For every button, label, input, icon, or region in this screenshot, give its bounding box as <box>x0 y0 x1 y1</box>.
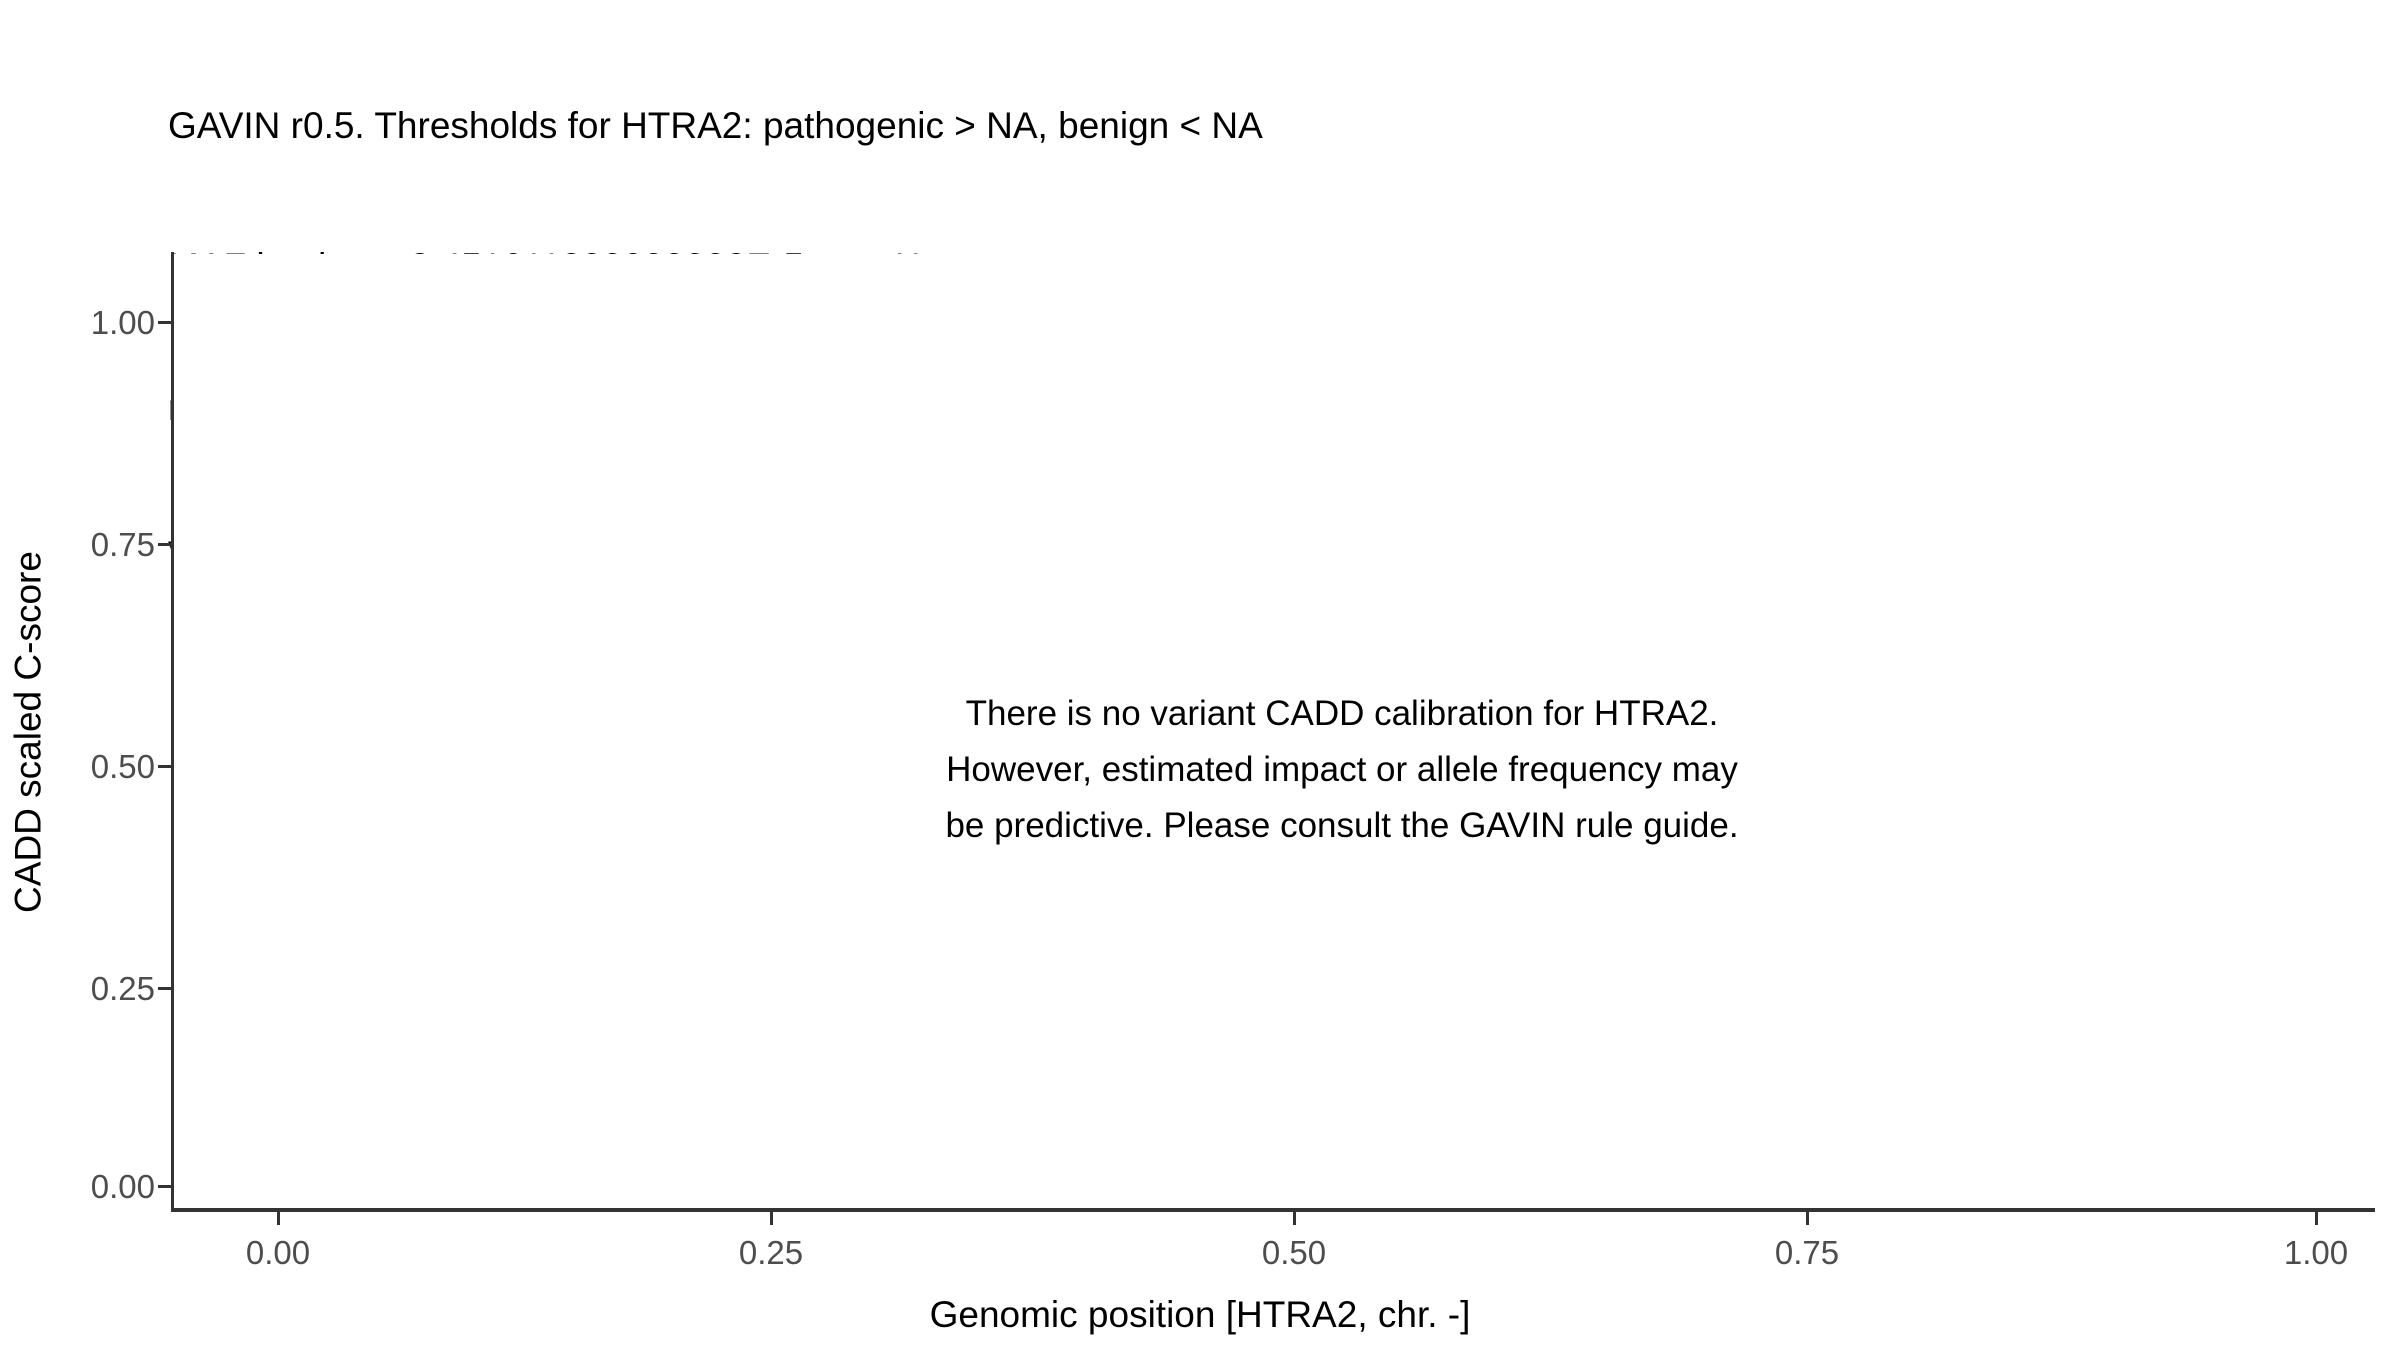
y-axis-tick-mark <box>158 1185 171 1188</box>
x-axis-line <box>171 1208 2375 1212</box>
x-axis-tick-mark <box>2315 1212 2318 1225</box>
x-axis-tick-label: 0.75 <box>1707 1236 1907 1269</box>
x-axis-tick-mark <box>277 1212 280 1225</box>
x-axis-tick-label: 1.00 <box>2216 1236 2400 1269</box>
panel-annotation-line-2: However, estimated impact or allele freq… <box>642 742 2042 798</box>
panel-annotation-line-3: be predictive. Please consult the GAVIN … <box>642 798 2042 854</box>
y-axis-line <box>171 252 174 1211</box>
x-axis-tick-label: 0.50 <box>1194 1236 1394 1269</box>
chart-canvas: GAVIN r0.5. Thresholds for HTRA2: pathog… <box>0 0 2400 1350</box>
x-axis-tick-mark <box>770 1212 773 1225</box>
chart-title-line-1: GAVIN r0.5. Thresholds for HTRA2: pathog… <box>168 102 2348 149</box>
y-axis-tick-mark <box>158 987 171 990</box>
x-axis-tick-mark <box>1293 1212 1296 1225</box>
x-axis-tick-label: 0.00 <box>178 1236 378 1269</box>
y-axis-tick-mark <box>158 765 171 768</box>
panel-annotation-text: There is no variant CADD calibration for… <box>642 686 2042 854</box>
panel-annotation-line-1: There is no variant CADD calibration for… <box>642 686 2042 742</box>
y-axis-tick-mark <box>158 543 171 546</box>
y-axis-title: CADD scaled C-score <box>10 551 47 913</box>
x-axis-title: Genomic position [HTRA2, chr. -] <box>0 1296 2400 1333</box>
x-axis-tick-mark <box>1806 1212 1809 1225</box>
y-axis-tick-mark <box>158 321 171 324</box>
y-axis-title-wrapper: CADD scaled C-score <box>0 254 56 1209</box>
x-axis-tick-label: 0.25 <box>671 1236 871 1269</box>
plot-panel: There is no variant CADD calibration for… <box>172 254 2375 1209</box>
